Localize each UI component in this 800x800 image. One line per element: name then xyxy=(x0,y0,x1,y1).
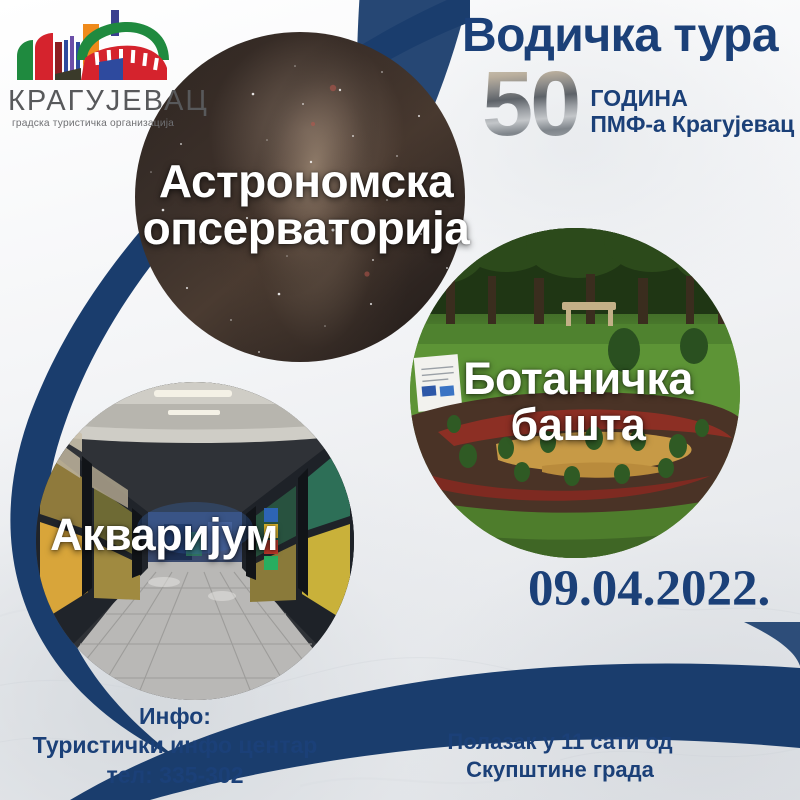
event-date: 09.04.2022. xyxy=(528,560,770,618)
header-block: Водичка тура 50 ГОДИНА ПМФ-а Крагујевац xyxy=(448,12,792,143)
circle-photo-aqua[interactable] xyxy=(36,382,354,700)
anniversary-years-label: ГОДИНА xyxy=(590,86,794,111)
logo-wordmark: КРАГУЈЕВАЦ xyxy=(8,87,178,116)
aquarium-corridor-illustration xyxy=(36,382,354,700)
anniversary-row: 50 ГОДИНА ПМФ-а Крагујевац xyxy=(448,66,792,143)
anniversary-number: 50 xyxy=(482,66,578,143)
starfield-icon xyxy=(135,32,465,362)
circle-photo-botanic[interactable] xyxy=(410,228,740,558)
circle-photo-astro[interactable] xyxy=(135,32,465,362)
anniversary-faculty-label: ПМФ-а Крагујевац xyxy=(590,111,794,137)
footer-info-contact: Инфо: Туристички инфо центар тел: 335-30… xyxy=(0,702,350,790)
footer-departure-info: Полазак у 11 сати од Скупштине града xyxy=(395,728,725,784)
botanical-garden-illustration xyxy=(410,228,740,558)
logo-subtitle: градска туристичка организација xyxy=(8,119,178,129)
poster-canvas: Астрономска опсерваторија Ботаничка башт… xyxy=(0,0,800,800)
kragujevac-tourism-logo[interactable]: КРАГУЈЕВАЦ градска туристичка организаци… xyxy=(8,8,178,129)
kragujevac-city-logo-icon xyxy=(15,8,171,86)
anniversary-text: ГОДИНА ПМФ-а Крагујевац xyxy=(578,86,794,144)
garden-info-sign xyxy=(414,354,463,412)
